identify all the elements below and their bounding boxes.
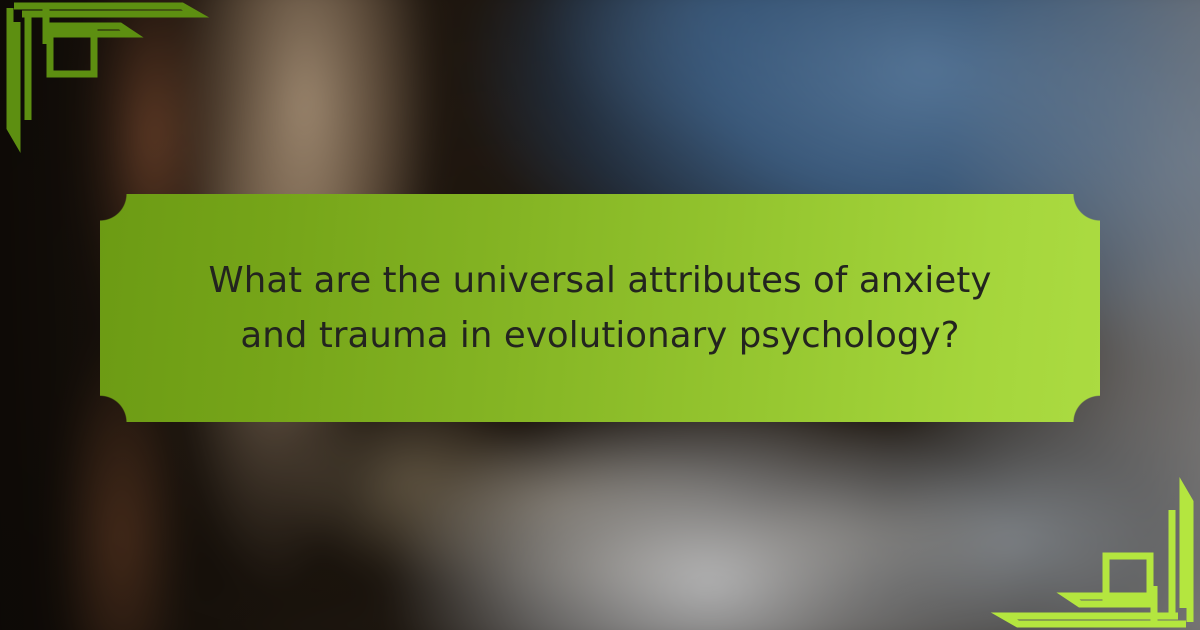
share-card: What are the universal attributes of anx… xyxy=(0,0,1200,630)
corner-ornament-top-left xyxy=(0,0,210,160)
question-text: What are the universal attributes of anx… xyxy=(170,253,1030,363)
corner-bracket-ornament-icon xyxy=(990,470,1200,630)
corner-bracket-ornament-icon xyxy=(0,0,210,160)
question-banner: What are the universal attributes of anx… xyxy=(100,194,1100,422)
corner-ornament-bottom-right xyxy=(990,470,1200,630)
